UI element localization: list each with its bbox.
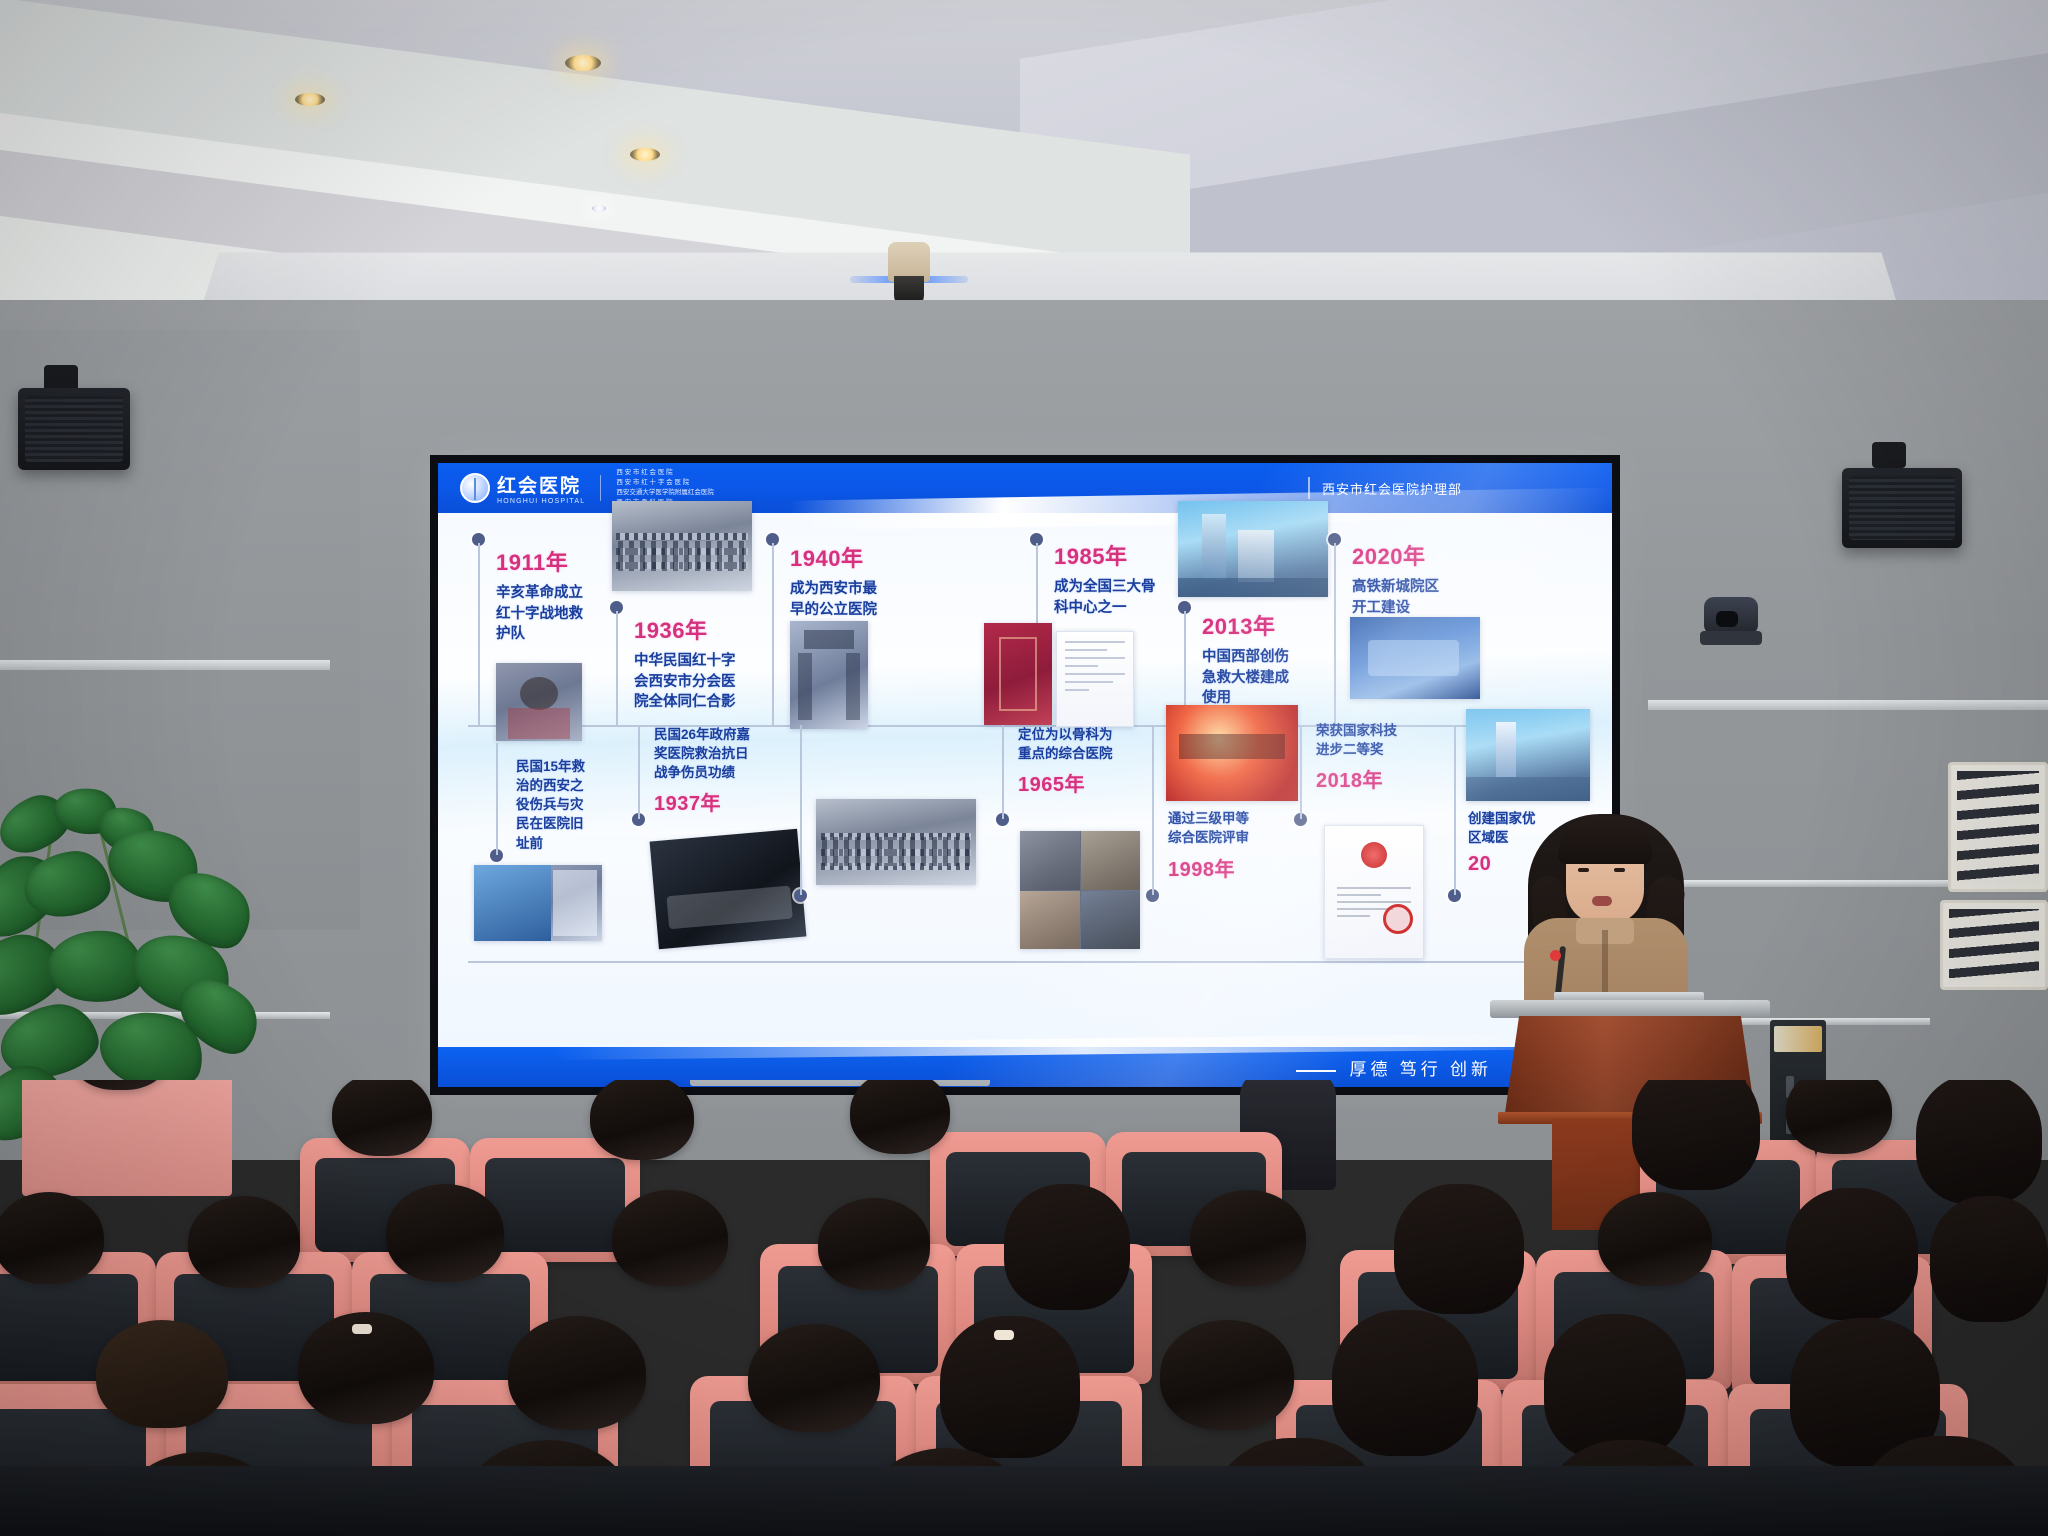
logo-divider <box>600 475 601 501</box>
timeline-year-1985: 1985年 <box>1054 539 1180 571</box>
timeline-year-2013: 2013年 <box>1202 609 1326 641</box>
audience-head-r2-3 <box>386 1184 504 1282</box>
timeline-desc-1965: 定位为以骨科为 重点的综合医院 <box>1018 725 1148 763</box>
audience-head-r2-7 <box>1190 1190 1306 1286</box>
timeline-desc-1940: 成为西安市最 早的公立医院 <box>790 579 910 620</box>
graduation-photo-rows <box>816 799 976 885</box>
timeline-photo-1937 <box>650 829 807 949</box>
timeline-desc-1937: 民国26年政府嘉 奖医院救治抗日 战争伤员功绩 <box>654 725 802 782</box>
audience-head-r2-5 <box>818 1198 930 1290</box>
portrait-2 <box>1081 831 1141 890</box>
timeline-photo-1949 <box>816 799 976 885</box>
ceiling-downlight-3 <box>630 148 660 161</box>
timeline-photo-1926 <box>474 865 602 941</box>
certificate-emblem-icon <box>1361 842 1387 868</box>
audience-head-r3-3 <box>508 1316 646 1430</box>
timeline-photo-1936 <box>612 501 752 591</box>
timeline-item-2018: 荣获国家科技 进步二等奖 2018年 <box>1316 721 1436 793</box>
audience-hair-r1-6 <box>1916 1080 2042 1204</box>
group-photo-rows <box>612 501 752 591</box>
timeline-stem-1926 <box>496 743 498 855</box>
timeline-photo-2018 <box>1324 825 1424 959</box>
audience-head-r3-4 <box>748 1324 880 1432</box>
timeline-item-1965: 定位为以骨科为 重点的综合医院 1965年 <box>1018 725 1148 797</box>
audience-head-r1-5 <box>1786 1080 1892 1154</box>
lecture-hall-photo: 红会医院 HONGHUI HOSPITAL 西 安 市 红 会 医 院 西 安 … <box>0 0 2048 1536</box>
timeline-item-1998: 通过三级甲等 综合医院评审 1998年 <box>1168 809 1294 882</box>
audience-desk-back <box>690 1080 990 1086</box>
timeline-photo-2020 <box>1350 617 1480 699</box>
timeline-desc-2020: 高铁新城院区 开工建设 <box>1352 577 1472 618</box>
timeline-desc-1998: 通过三级甲等 综合医院评审 <box>1168 809 1294 847</box>
timeline-year-1965: 1965年 <box>1018 768 1148 797</box>
timeline-stem-1998 <box>1152 725 1154 895</box>
hospital-logo-mark-icon <box>460 473 490 503</box>
timeline-desc-2013: 中国西部创伤 急救大楼建成 使用 <box>1202 647 1326 709</box>
audience-hair-r3-8 <box>1544 1314 1686 1460</box>
projection-screen: 红会医院 HONGHUI HOSPITAL 西 安 市 红 会 医 院 西 安 … <box>438 463 1612 1087</box>
timeline-desc-1926: 民国15年救 治的西安之 役伤兵与灾 民在医院旧 址前 <box>516 757 616 853</box>
timeline-stem-last <box>1454 725 1456 895</box>
right-ptz-camera-icon <box>1700 593 1762 645</box>
hospital-logo-name-cn: 红会医院 <box>497 471 585 498</box>
audience-hair-r2-11 <box>1930 1196 2048 1322</box>
header-divider <box>1308 477 1310 499</box>
ac-vent <box>1948 762 2048 892</box>
ceiling-downlight-2 <box>295 93 325 106</box>
projection-screen-frame: 红会医院 HONGHUI HOSPITAL 西 安 市 红 会 医 院 西 安 … <box>430 455 1620 1095</box>
rack-label <box>1774 1026 1822 1052</box>
presenter-red-badge-icon <box>1550 950 1561 961</box>
timeline-photo-1940 <box>790 621 868 729</box>
hairclip-icon-1 <box>352 1324 372 1334</box>
timeline-year-2020: 2020年 <box>1352 539 1472 571</box>
portrait-4 <box>1081 891 1141 950</box>
left-wall-speaker <box>18 388 130 470</box>
timeline-stem-2020 <box>1334 543 1336 725</box>
timeline-photo-1998 <box>1166 705 1298 801</box>
audience-person-pink-shirt <box>22 1080 232 1196</box>
ceiling-downlight-1 <box>565 55 601 71</box>
audience-head-r3-6 <box>1160 1320 1294 1430</box>
audience-head-r2-2 <box>188 1196 300 1288</box>
timeline-stem-1940 <box>772 543 774 725</box>
wall-rail-upper <box>0 660 330 670</box>
ceiling-spotlight-3 <box>592 205 606 212</box>
audience-head-r1-3 <box>850 1080 950 1154</box>
timeline-item-1911: 1911年 辛亥革命成立 红十字战地救 护队 <box>496 545 608 645</box>
timeline-year-1937: 1937年 <box>654 787 802 816</box>
timeline-stem-1936 <box>616 611 618 725</box>
timeline-item-1985: 1985年 成为全国三大骨 科中心之一 <box>1054 539 1180 618</box>
timeline-stem-1911 <box>478 543 480 725</box>
timeline-year-1940: 1940年 <box>790 541 910 573</box>
timeline-stem-1965 <box>1002 725 1004 819</box>
hairclip-icon-2 <box>994 1330 1014 1340</box>
audience-hair-r2-8 <box>1394 1184 1524 1314</box>
logo-sub-line-2: 西 安 市 红 十 字 会 医 院 <box>616 478 714 488</box>
right-speaker-bracket <box>1872 442 1906 468</box>
timeline-photo-1965 <box>1020 831 1140 949</box>
timeline-desc-2018: 荣获国家科技 进步二等奖 <box>1316 721 1436 759</box>
right-wall-speaker <box>1842 468 1962 548</box>
audience-head-r2-4 <box>612 1190 728 1286</box>
wall-rail-right <box>1648 700 2048 710</box>
timeline-photo-1911 <box>496 663 582 741</box>
logo-sub-line-3: 西安交通大学医学院附属红会医院 <box>616 488 714 498</box>
audience-hair-r2-6 <box>1004 1184 1130 1310</box>
ac-vent-lower <box>1940 900 2048 990</box>
timeline-item-1937: 民国26年政府嘉 奖医院救治抗日 战争伤员功绩 1937年 <box>654 725 802 816</box>
audience-hair-r1-4 <box>1632 1080 1760 1190</box>
audience-area <box>0 1080 2048 1536</box>
portrait-3 <box>1020 891 1080 950</box>
timeline-axis-bottom <box>468 961 1558 963</box>
timeline-photo-1985-doc <box>1056 631 1134 727</box>
timeline-stem-1949 <box>800 725 802 895</box>
motto-text: 厚德 笃行 创新 <box>1350 1060 1493 1079</box>
hospital-logo-name-en: HONGHUI HOSPITAL <box>497 498 585 505</box>
timeline-photo-2013 <box>1178 501 1328 597</box>
audience-hair-r3-7 <box>1332 1310 1478 1456</box>
slide-header-right: 西安市红会医院护理部 <box>1308 477 1462 499</box>
timeline-stem-2018 <box>1300 725 1302 819</box>
portrait-1 <box>1020 831 1080 890</box>
audience-head-r2-9 <box>1598 1192 1712 1286</box>
podium-top-surface <box>1490 1000 1770 1018</box>
doc-lines <box>1065 641 1126 697</box>
timeline-item-1936: 1936年 中华民国红十字 会西安市分会医 院全体同仁合影 <box>634 613 764 713</box>
certificate-red-stamp-icon <box>1383 904 1413 934</box>
header-department-label: 西安市红会医院护理部 <box>1322 479 1462 498</box>
logo-sub-line-1: 西 安 市 红 会 医 院 <box>616 468 714 478</box>
timeline-desc-1911: 辛亥革命成立 红十字战地救 护队 <box>496 583 608 645</box>
timeline-year-1936: 1936年 <box>634 613 764 645</box>
timeline-year-2018: 2018年 <box>1316 764 1436 793</box>
audience-head-r1-1 <box>332 1080 432 1156</box>
timeline-year-1911: 1911年 <box>496 545 608 577</box>
timeline-item-1940: 1940年 成为西安市最 早的公立医院 <box>790 541 910 620</box>
presenter-mouth <box>1592 896 1612 906</box>
timeline-desc-1985: 成为全国三大骨 科中心之一 <box>1054 577 1180 618</box>
timeline-item-2013: 2013年 中国西部创伤 急救大楼建成 使用 <box>1202 609 1326 709</box>
audience-head-r1-2 <box>590 1080 694 1160</box>
audience-hair-r2-10 <box>1786 1188 1918 1320</box>
timeline-stem-1937 <box>638 725 640 819</box>
timeline-year-1998: 1998年 <box>1168 853 1294 882</box>
slide-footer-motto: 厚德 笃行 创新 <box>1296 1055 1493 1080</box>
presenter-eye-right <box>1614 868 1625 872</box>
timeline-desc-1936: 中华民国红十字 会西安市分会医 院全体同仁合影 <box>634 651 764 713</box>
audience-head-r3-1 <box>96 1320 228 1428</box>
presenter-eye-left <box>1578 868 1589 872</box>
audience-head-r2-1 <box>0 1192 104 1284</box>
audience-foreground-shadow <box>0 1466 2048 1536</box>
slide-body: 1911年 辛亥革命成立 红十字战地救 护队 1936年 中华民国红十字 会西安… <box>438 513 1612 1047</box>
timeline-photo-1985 <box>984 623 1052 725</box>
timeline-item-2020: 2020年 高铁新城院区 开工建设 <box>1352 539 1472 618</box>
timeline-photo-last <box>1466 709 1590 801</box>
